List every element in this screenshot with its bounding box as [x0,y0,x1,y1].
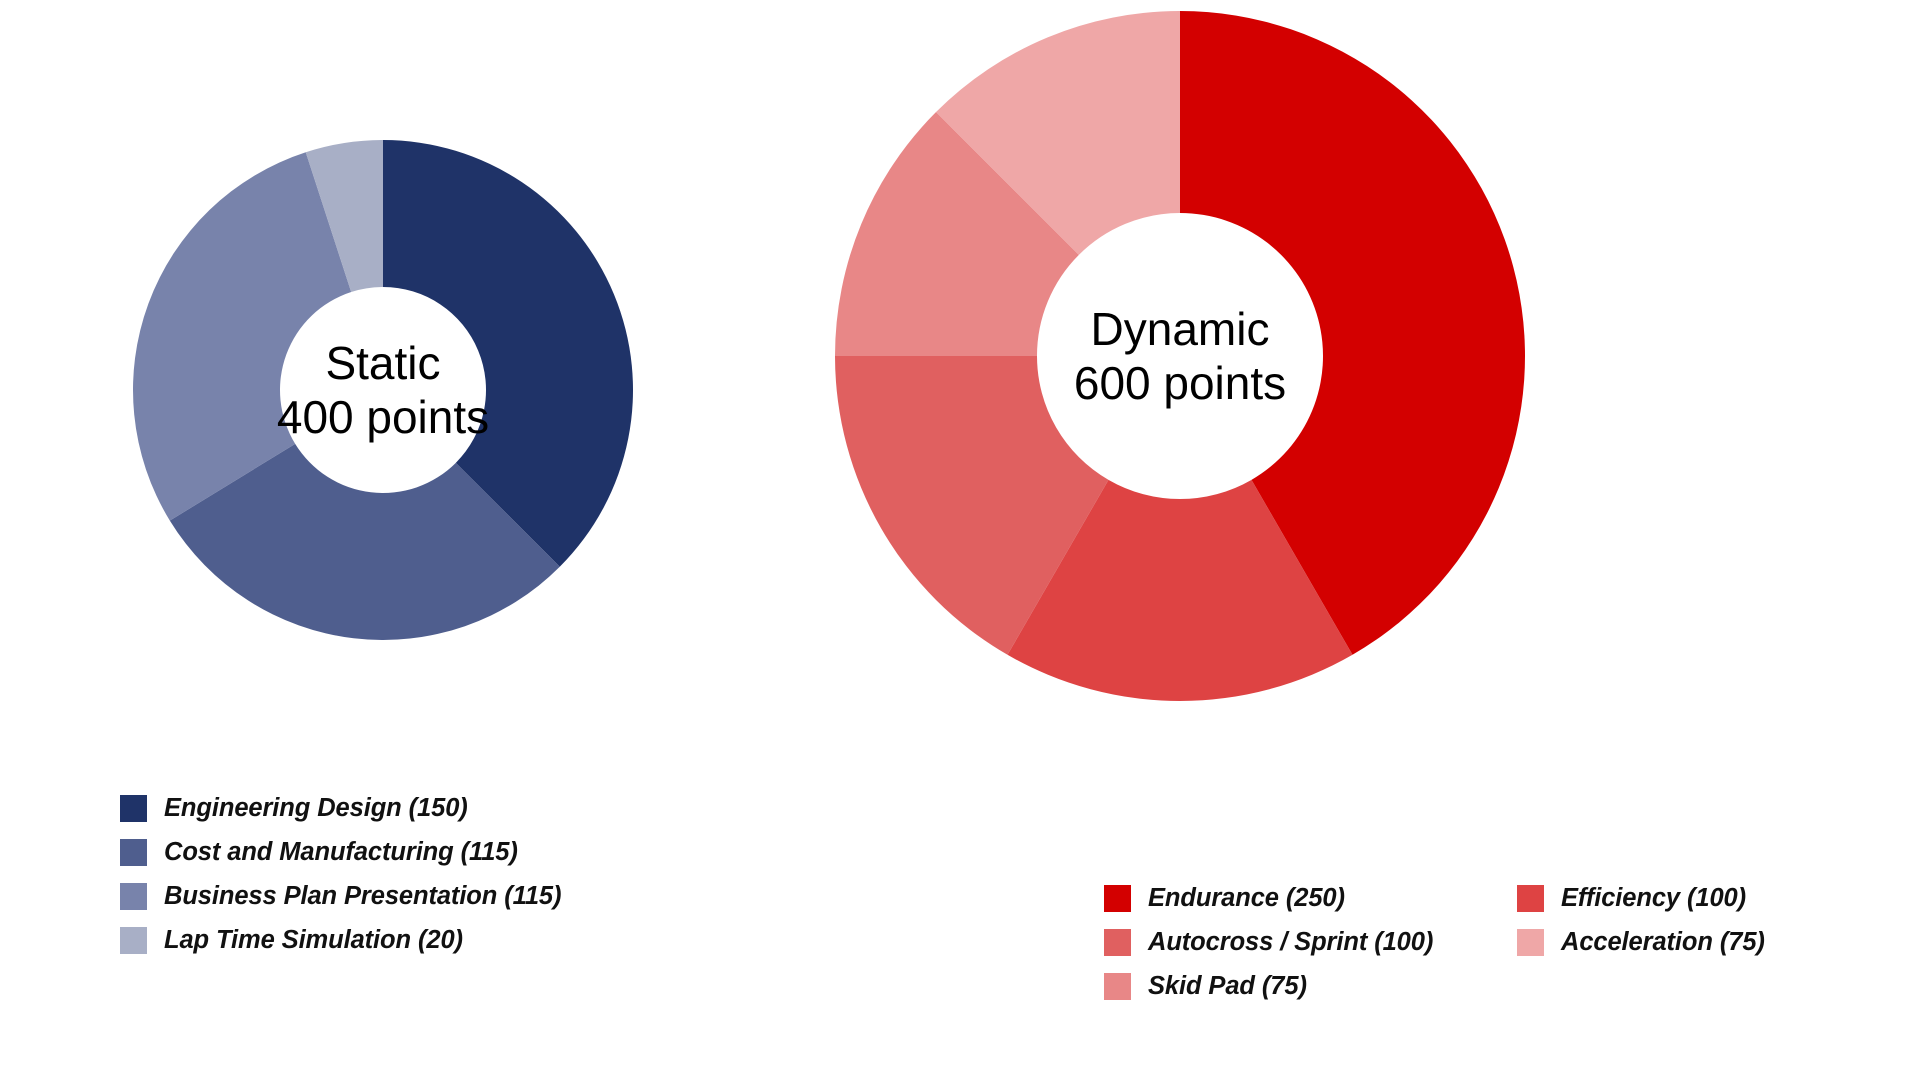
legend-item-endurance[interactable]: Endurance (250) [1104,880,1433,916]
legend-label-autocross-sprint: Autocross / Sprint (100) [1148,928,1433,957]
dynamic-donut-chart: Dynamic 600 points [835,11,1525,701]
dynamic-legend-column-1: Endurance (250) Autocross / Sprint (100)… [1104,880,1433,1012]
dynamic-donut-svg [835,11,1525,701]
legend-label-endurance: Endurance (250) [1148,884,1345,913]
legend-item-skid-pad[interactable]: Skid Pad (75) [1104,968,1433,1004]
legend-label-business-plan-presentation: Business Plan Presentation (115) [164,882,561,911]
legend-label-lap-time-simulation: Lap Time Simulation (20) [164,926,463,955]
legend-swatch-engineering-design [120,795,147,822]
legend-label-cost-and-manufacturing: Cost and Manufacturing (115) [164,838,518,867]
legend-swatch-autocross-sprint [1104,929,1131,956]
legend-swatch-endurance [1104,885,1131,912]
legend-label-efficiency: Efficiency (100) [1561,884,1746,913]
legend-swatch-business-plan-presentation [120,883,147,910]
legend-label-engineering-design: Engineering Design (150) [164,794,468,823]
legend-swatch-acceleration [1517,929,1544,956]
slide-canvas: Static 400 points Dynamic 600 points Eng… [0,0,1920,1080]
legend-swatch-lap-time-simulation [120,927,147,954]
legend-item-acceleration[interactable]: Acceleration (75) [1517,924,1765,960]
legend-item-lap-time-simulation[interactable]: Lap Time Simulation (20) [120,922,561,958]
static-donut-chart: Static 400 points [133,140,633,640]
legend-swatch-cost-and-manufacturing [120,839,147,866]
legend-swatch-skid-pad [1104,973,1131,1000]
legend-swatch-efficiency [1517,885,1544,912]
donut-slice[interactable] [133,152,351,520]
legend-label-skid-pad: Skid Pad (75) [1148,972,1307,1001]
legend-item-autocross-sprint[interactable]: Autocross / Sprint (100) [1104,924,1433,960]
legend-item-cost-and-manufacturing[interactable]: Cost and Manufacturing (115) [120,834,561,870]
static-donut-svg [133,140,633,640]
legend-item-engineering-design[interactable]: Engineering Design (150) [120,790,561,826]
dynamic-legend-column-2: Efficiency (100) Acceleration (75) [1517,880,1765,968]
static-legend: Engineering Design (150) Cost and Manufa… [120,790,561,966]
legend-label-acceleration: Acceleration (75) [1561,928,1765,957]
legend-item-business-plan-presentation[interactable]: Business Plan Presentation (115) [120,878,561,914]
legend-item-efficiency[interactable]: Efficiency (100) [1517,880,1765,916]
